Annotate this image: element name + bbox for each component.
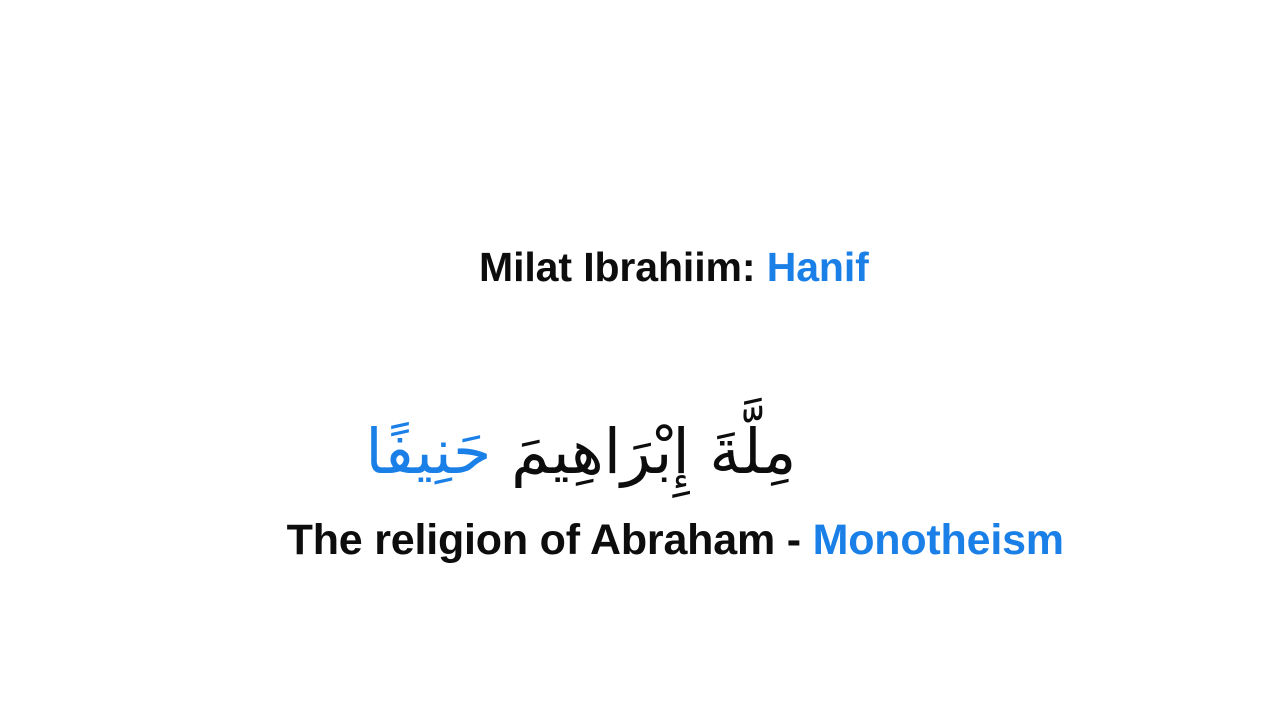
translation-line: The religion of Abraham - Monotheism <box>0 462 1280 618</box>
content-stack: Milat Ibrahiim: Hanif مِلَّةَ إِبْرَاهِي… <box>0 0 1280 720</box>
translation-highlight-text: Monotheism <box>813 516 1064 564</box>
translation-primary-text: The religion of Abraham - <box>287 516 813 564</box>
slide-canvas: Milat Ibrahiim: Hanif مِلَّةَ إِبْرَاهِي… <box>0 0 1280 720</box>
transliteration-primary-text: Milat Ibrahiim: <box>479 244 767 290</box>
transliteration-highlight-text: Hanif <box>767 244 869 290</box>
